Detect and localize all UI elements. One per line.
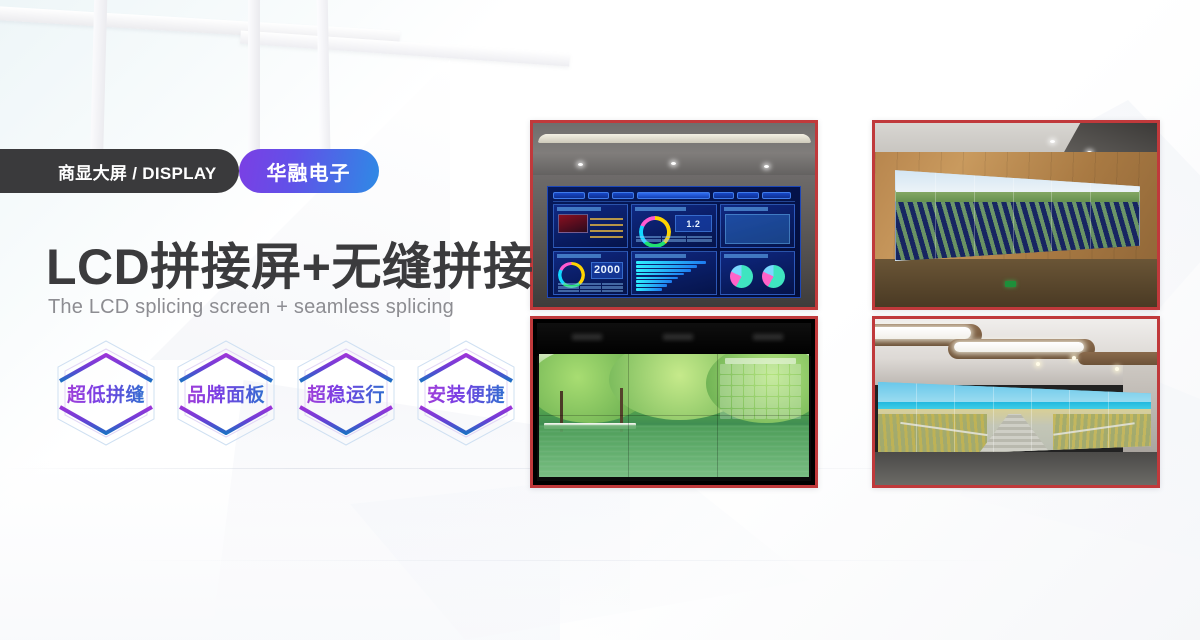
panel-seam <box>1031 380 1032 456</box>
calendar-cell <box>732 364 743 374</box>
calendar-cell <box>720 375 731 385</box>
calendar-cell <box>790 375 801 385</box>
calendar-cell <box>790 397 801 407</box>
ceiling-spotlight <box>671 162 676 165</box>
card-title-bar <box>557 207 601 211</box>
dashboard-card-intro <box>553 204 628 248</box>
legend-item <box>687 236 712 238</box>
dashboard-card-ranking <box>631 251 717 295</box>
card-title-bar <box>635 207 685 211</box>
legend-item <box>580 283 601 285</box>
page-title: LCD拼接屏+无缝拼接 <box>46 227 533 299</box>
water-shimmer <box>539 425 810 477</box>
gallery-photo-beach[interactable] <box>872 316 1160 488</box>
legend-item <box>636 236 661 238</box>
calendar-cell <box>790 409 801 419</box>
calendar-cell <box>744 375 755 385</box>
legend-item <box>687 239 712 241</box>
dashboard-card-stats: 1.2 <box>631 204 717 248</box>
calendar-cell <box>767 397 778 407</box>
calendar-cell <box>779 364 790 374</box>
pie-chart <box>762 265 785 288</box>
ceiling-spotlight <box>1050 140 1055 143</box>
kpi-value: 1.2 <box>675 215 712 232</box>
ceiling-downlight <box>1036 362 1040 366</box>
calendar-cell <box>767 409 778 419</box>
calendar-cell <box>744 386 755 396</box>
calendar-cell <box>755 397 766 407</box>
legend-item <box>636 239 661 241</box>
calendar-cell <box>732 397 743 407</box>
dashboard-card-donut2: 2000 <box>553 251 628 295</box>
legend-item <box>602 283 623 285</box>
dashboard-nav-chip <box>737 192 759 200</box>
ceiling-downlight <box>1115 367 1119 371</box>
panel-seam <box>954 380 955 456</box>
panel-seam <box>974 166 975 260</box>
calendar-cell <box>790 364 801 374</box>
legend-item <box>558 286 579 288</box>
legend-item <box>558 283 579 285</box>
feature-badge-1: 品牌面板 <box>168 337 284 449</box>
ceiling-beam-horizontal-2 <box>240 31 570 67</box>
calendar-cell <box>732 375 743 385</box>
calendar-cell <box>767 364 778 374</box>
feature-label-1: 品牌面板 <box>187 380 265 407</box>
calendar-overlay <box>720 364 801 419</box>
panel-seam <box>993 380 994 456</box>
calendar-cell <box>755 364 766 374</box>
card-text-lines <box>590 214 624 237</box>
calendar-cell <box>779 409 790 419</box>
card-title-bar <box>724 254 768 258</box>
dashboard-nav-chip <box>762 192 791 200</box>
calendar-cell <box>720 397 731 407</box>
pie-chart <box>730 265 753 288</box>
calendar-cell <box>744 397 755 407</box>
bezel-reflection <box>572 334 602 340</box>
category-badge: 商显大屏 / DISPLAY <box>0 149 239 193</box>
dashboard-nav-chip <box>588 192 610 200</box>
wall-base-panel <box>875 259 1157 307</box>
gallery-photo-solar[interactable] <box>872 120 1160 310</box>
kpi-number: 2000 <box>594 264 620 276</box>
bar <box>636 273 684 276</box>
feature-badge-0: 超低拼缝 <box>48 337 164 449</box>
feature-label-2: 超稳运行 <box>307 380 385 407</box>
feature-label-3: 安装便捷 <box>427 380 505 407</box>
video-wall-display: 1.2 <box>547 186 801 298</box>
legend-item <box>662 239 687 241</box>
feature-badge-2: 超稳运行 <box>288 337 404 449</box>
dashboard-card-pies <box>720 251 795 295</box>
kpi-number: 1.2 <box>686 219 700 229</box>
calendar-cell <box>755 409 766 419</box>
bezel-reflection <box>663 334 693 340</box>
dashboard-panel-grid: 1.2 <box>553 204 795 294</box>
panel-seam <box>1069 380 1070 456</box>
calendar-cell <box>755 375 766 385</box>
panel-seam <box>935 166 936 260</box>
calendar-cell <box>767 375 778 385</box>
panel-seam <box>539 415 810 416</box>
calendar-cell <box>779 397 790 407</box>
feature-badge-3: 安装便捷 <box>408 337 524 449</box>
ceiling <box>533 123 815 178</box>
legend-item <box>580 286 601 288</box>
feature-label-0: 超低拼缝 <box>67 380 145 407</box>
legend-item <box>662 236 687 238</box>
calendar-cell <box>767 386 778 396</box>
gallery-photo-dashboard[interactable]: 1.2 <box>530 120 818 310</box>
hall-floor <box>875 452 1157 485</box>
bar <box>636 265 697 268</box>
dashboard-card-flow <box>720 204 795 248</box>
calendar-cell <box>779 375 790 385</box>
bezel-reflection <box>753 334 783 340</box>
ceiling-coffer <box>1078 352 1157 365</box>
screen-content-grass-left <box>878 414 987 457</box>
calendar-cell <box>732 409 743 419</box>
legend-item <box>602 286 623 288</box>
calendar-cell <box>720 409 731 419</box>
card-title-bar <box>635 254 685 258</box>
panel-seam <box>916 380 917 456</box>
calendar-cell <box>744 409 755 419</box>
calendar-cell <box>720 386 731 396</box>
exit-sign-icon <box>1005 281 1016 287</box>
bar <box>636 280 672 283</box>
legend-item <box>558 290 579 292</box>
dashboard-header <box>553 190 795 202</box>
kpi-value-secondary: 2000 <box>591 262 623 279</box>
background-hairline-2 <box>120 560 1020 561</box>
ceiling-beam-horizontal-1 <box>0 5 400 45</box>
gallery-photo-garden[interactable] <box>530 316 818 488</box>
calendar-cell <box>720 364 731 374</box>
bar-chart <box>636 261 712 291</box>
bar <box>636 284 667 287</box>
legend-item <box>580 290 601 292</box>
promo-banner: 商显大屏 / DISPLAY 华融电子 LCD拼接屏+无缝拼接 The LCD … <box>0 0 1200 640</box>
card-title-bar <box>724 207 768 211</box>
calendar-cell <box>755 386 766 396</box>
pie-chart-group <box>725 264 789 288</box>
calendar-cell <box>779 386 790 396</box>
feature-badge-list: 超低拼缝 品牌面板 <box>48 337 524 449</box>
flow-diagram <box>725 214 791 245</box>
panel-seam <box>1108 380 1109 456</box>
dashboard-title-chip <box>637 192 710 200</box>
bar <box>636 269 690 272</box>
calendar-cell <box>744 364 755 374</box>
brand-badge-row: 商显大屏 / DISPLAY 华融电子 <box>48 149 379 193</box>
display-bezel-top <box>533 319 815 356</box>
background-wedge-e <box>0 460 560 640</box>
ceiling-beam-vertical-3 <box>317 0 331 150</box>
calendar-cell <box>732 386 743 396</box>
ceiling-light-strip <box>875 327 971 339</box>
brand-name-badge: 华融电子 <box>239 149 379 193</box>
bar <box>636 261 706 264</box>
ceiling-light-strip <box>954 342 1084 352</box>
panel-seam <box>1013 166 1014 260</box>
page-subtitle: The LCD splicing screen + seamless splic… <box>48 296 454 319</box>
bar <box>636 288 662 291</box>
screen-content-pond <box>539 425 810 477</box>
dashboard-nav-chip <box>713 192 735 200</box>
chart-legend <box>558 283 624 292</box>
background-wedge-f <box>350 470 810 640</box>
card-thumbnail <box>558 214 587 232</box>
ceiling-downlight <box>1072 356 1076 360</box>
video-wall-display <box>878 380 1152 456</box>
legend-item <box>602 290 623 292</box>
card-title-bar <box>557 254 601 258</box>
cornice-molding <box>537 134 811 143</box>
dashboard-nav-chip <box>553 192 584 200</box>
calendar-cell <box>790 386 801 396</box>
video-wall-display <box>539 354 810 477</box>
bar <box>636 277 678 280</box>
dashboard-nav-chip <box>612 192 634 200</box>
chart-legend <box>636 236 712 245</box>
